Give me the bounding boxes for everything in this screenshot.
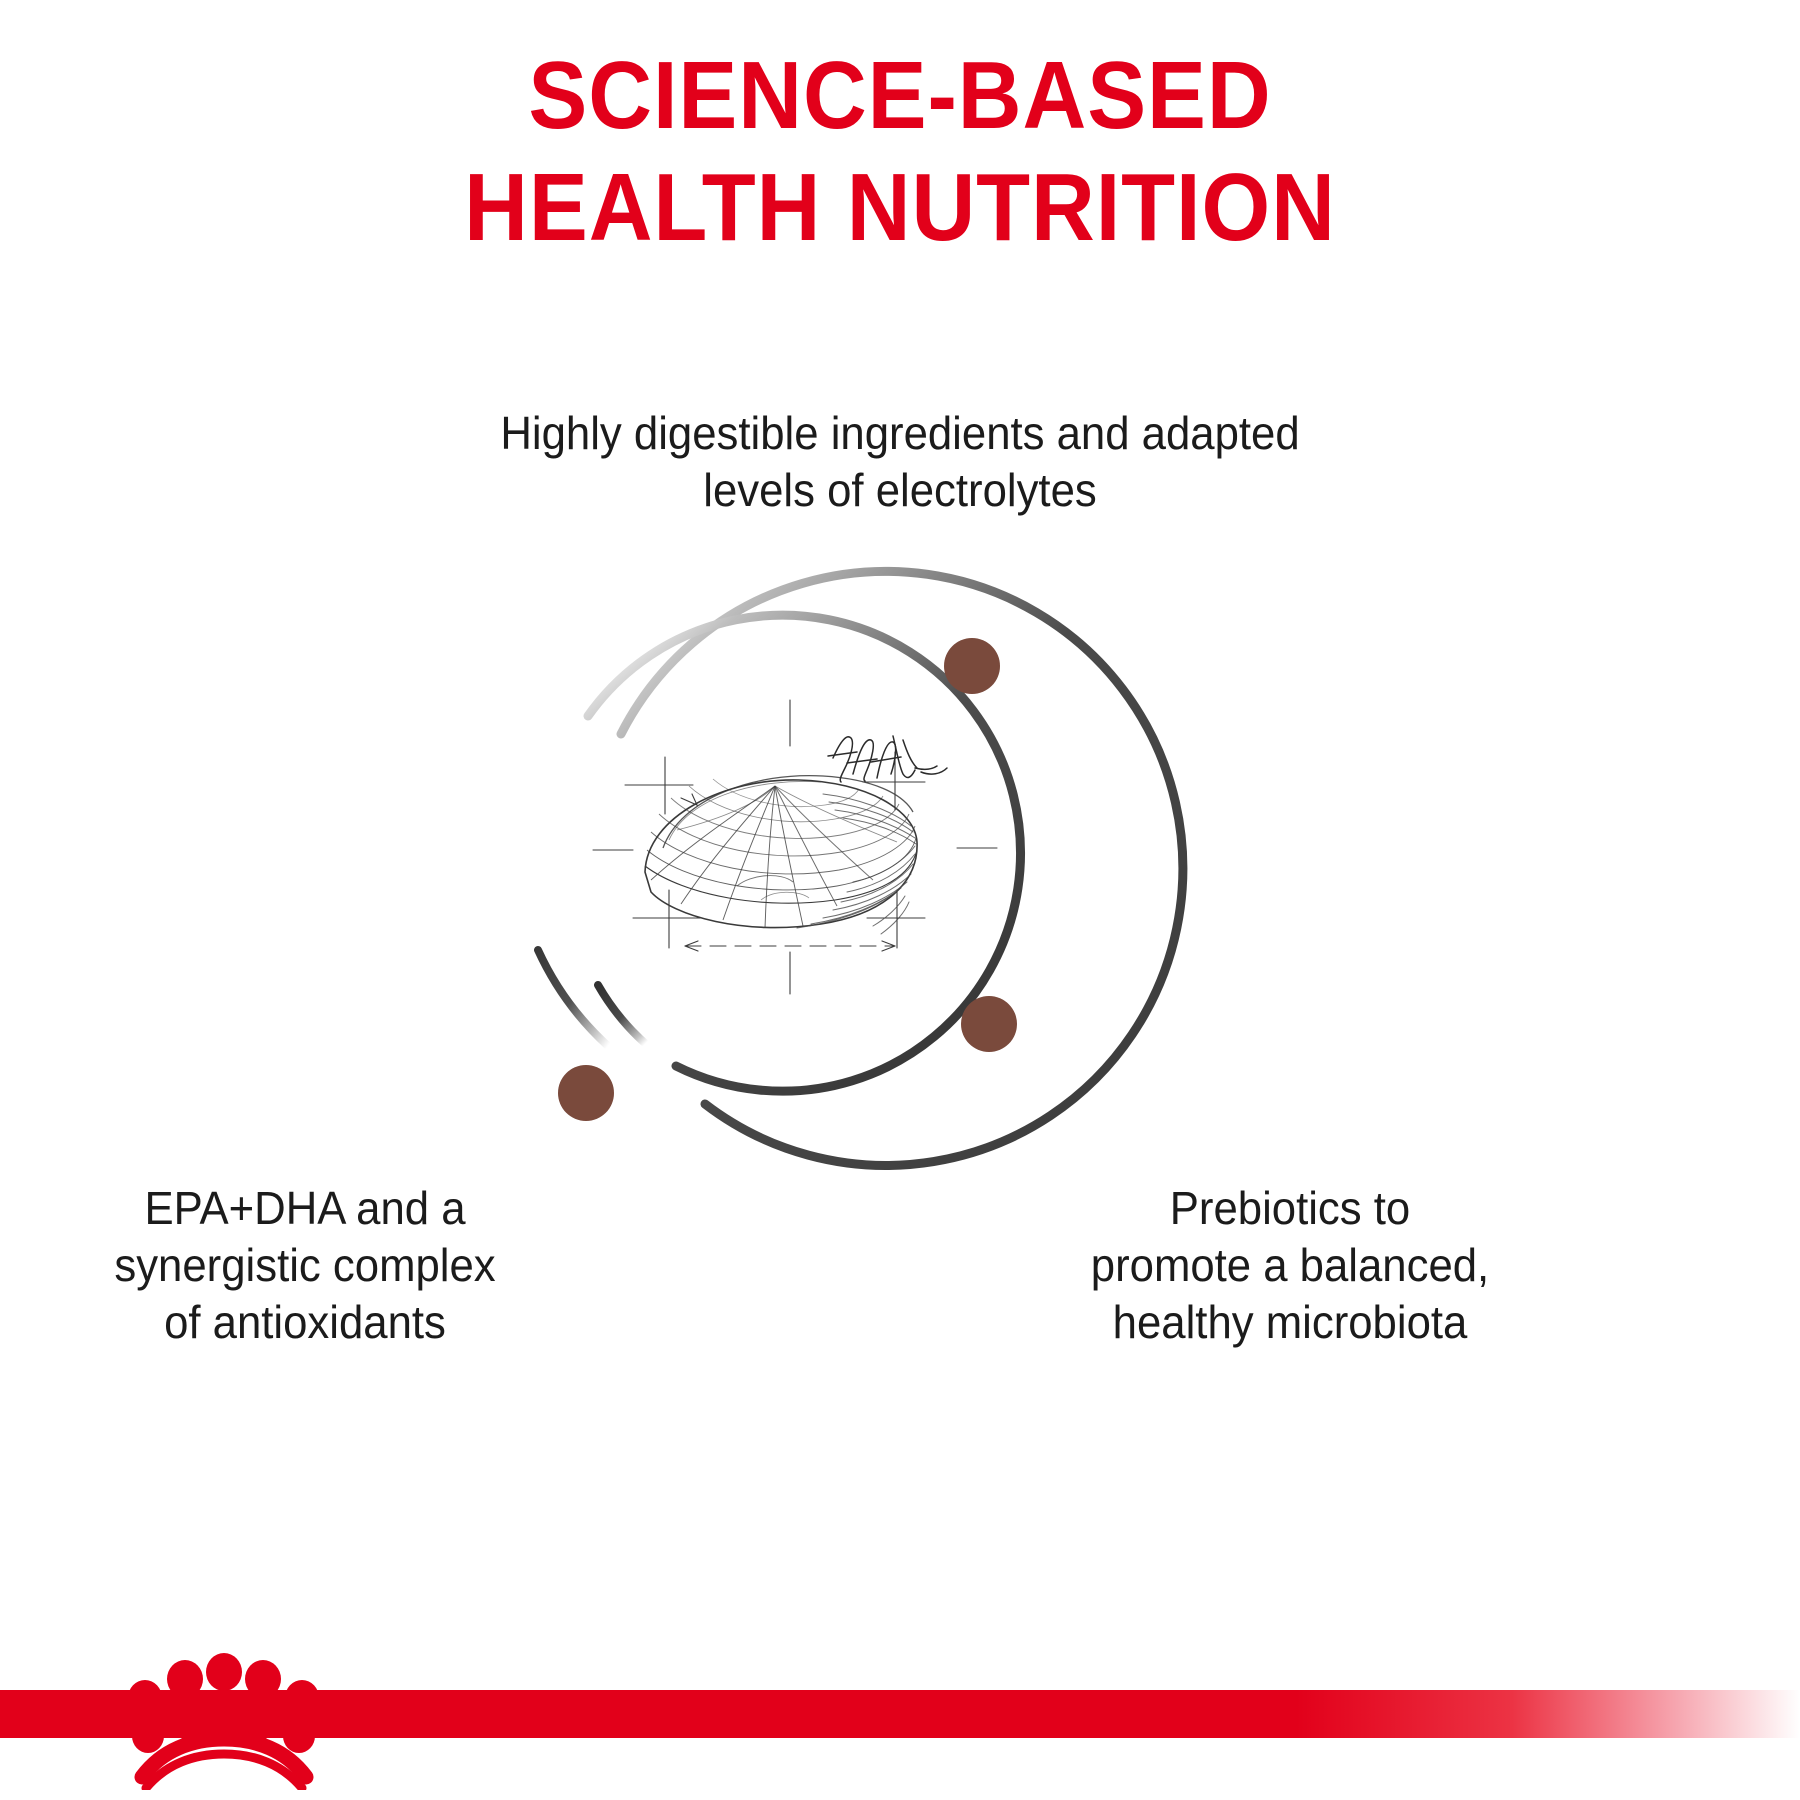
registration-marks <box>593 700 997 994</box>
caption-left-line-2: synergistic complex <box>44 1237 567 1294</box>
royal-canin-crown-logo <box>120 1638 325 1790</box>
caption-left-line-1: EPA+DHA and a <box>44 1180 567 1237</box>
caption-left: EPA+DHA and a synergistic complex of ant… <box>44 1180 567 1351</box>
kibble-body <box>645 776 917 928</box>
caption-right-line-3: healthy microbiota <box>1024 1294 1556 1351</box>
page-title-line-2: HEALTH NUTRITION <box>72 152 1728 264</box>
crown-base-arcs <box>142 1739 306 1788</box>
designer-signature <box>828 736 947 782</box>
caption-top-line-2: levels of electrolytes <box>330 462 1470 519</box>
marker-left <box>558 1065 614 1121</box>
caption-right-line-2: promote a balanced, <box>1024 1237 1556 1294</box>
caption-left-line-3: of antioxidants <box>44 1294 567 1351</box>
marker-top <box>944 638 1000 694</box>
page-title-line-1: SCIENCE-BASED <box>72 40 1728 152</box>
caption-right-line-1: Prebiotics to <box>1024 1180 1556 1237</box>
caption-top-line-1: Highly digestible ingredients and adapte… <box>330 405 1470 462</box>
page-title: SCIENCE-BASED HEALTH NUTRITION <box>72 40 1728 264</box>
caption-top: Highly digestible ingredients and adapte… <box>330 405 1470 519</box>
caption-right: Prebiotics to promote a balanced, health… <box>1024 1180 1556 1351</box>
kibble-technical-sketch <box>585 690 1005 1010</box>
